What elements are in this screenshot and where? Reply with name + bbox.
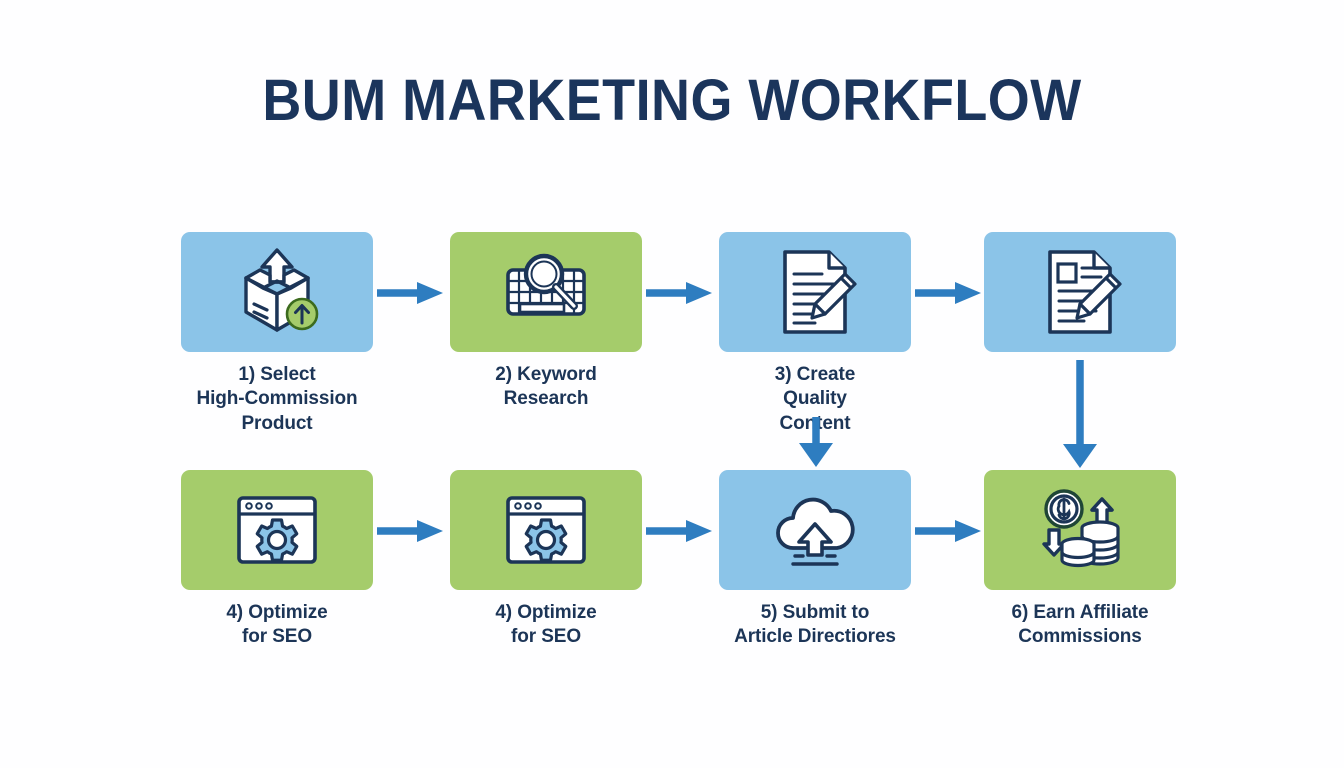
workflow-step-8[interactable]: 6) Earn Affiliate Commissions bbox=[984, 470, 1176, 650]
step-7-card[interactable] bbox=[719, 470, 911, 590]
browser-gear-icon bbox=[498, 482, 594, 578]
workflow-row-1: 1) Select High-Commission Product bbox=[0, 232, 1344, 472]
money-coins-icon bbox=[1032, 482, 1128, 578]
arrow-step4-to-step8-icon bbox=[1057, 360, 1103, 470]
document-pencil-icon bbox=[767, 244, 863, 340]
cloud-upload-icon bbox=[767, 482, 863, 578]
step-1-label: 1) Select High-Commission Product bbox=[162, 363, 392, 436]
step-5-label-line-2: for SEO bbox=[181, 625, 373, 649]
step-5-label: 4) Optimize for SEO bbox=[181, 601, 373, 650]
step-6-card[interactable] bbox=[450, 470, 642, 590]
step-1-label-line-1: 1) Select bbox=[162, 363, 392, 387]
workflow-step-6[interactable]: 4) Optimize for SEO bbox=[450, 470, 642, 650]
article-pencil-icon bbox=[1032, 244, 1128, 340]
step-1-label-line-2: High-Commission bbox=[162, 387, 392, 411]
page-title: BUM MARKETING WORKFLOW bbox=[47, 72, 1297, 130]
step-5-card[interactable] bbox=[181, 470, 373, 590]
step-7-label: 5) Submit to Article Directiores bbox=[700, 601, 930, 650]
arrow-step7-to-step8-icon bbox=[915, 518, 983, 544]
diagram-canvas: BUM MARKETING WORKFLOW bbox=[0, 0, 1344, 768]
step-3-label-line-2: Quality bbox=[719, 387, 911, 411]
arrow-step6-to-step7-icon bbox=[646, 518, 714, 544]
arrow-step3-to-step7-icon bbox=[793, 417, 839, 469]
open-box-up-arrow-icon bbox=[229, 244, 325, 340]
step-6-label: 4) Optimize for SEO bbox=[450, 601, 642, 650]
step-7-label-line-1: 5) Submit to bbox=[700, 601, 930, 625]
arrow-step3-to-step4-icon bbox=[915, 280, 983, 306]
step-4-card[interactable] bbox=[984, 232, 1176, 352]
step-2-card[interactable] bbox=[450, 232, 642, 352]
workflow-step-2[interactable]: 2) Keyword Research bbox=[450, 232, 642, 412]
step-2-label-line-2: Research bbox=[450, 387, 642, 411]
step-8-card[interactable] bbox=[984, 470, 1176, 590]
workflow-step-7[interactable]: 5) Submit to Article Directiores bbox=[719, 470, 911, 650]
step-2-label-line-1: 2) Keyword bbox=[450, 363, 642, 387]
step-3-card[interactable] bbox=[719, 232, 911, 352]
browser-gear-icon bbox=[229, 482, 325, 578]
step-8-label: 6) Earn Affiliate Commissions bbox=[965, 601, 1195, 650]
workflow-row-2: 4) Optimize for SEO bbox=[0, 470, 1344, 710]
workflow-step-1[interactable]: 1) Select High-Commission Product bbox=[181, 232, 373, 436]
workflow-step-5[interactable]: 4) Optimize for SEO bbox=[181, 470, 373, 650]
step-5-label-line-1: 4) Optimize bbox=[181, 601, 373, 625]
step-1-label-line-3: Product bbox=[162, 412, 392, 436]
step-3-label-line-1: 3) Create bbox=[719, 363, 911, 387]
workflow-step-4[interactable] bbox=[984, 232, 1176, 363]
workflow-step-3[interactable]: 3) Create Quality Content bbox=[719, 232, 911, 436]
step-2-label: 2) Keyword Research bbox=[450, 363, 642, 412]
keyboard-magnifier-icon bbox=[498, 244, 594, 340]
step-1-card[interactable] bbox=[181, 232, 373, 352]
arrow-step1-to-step2-icon bbox=[377, 280, 445, 306]
arrow-step5-to-step6-icon bbox=[377, 518, 445, 544]
arrow-step2-to-step3-icon bbox=[646, 280, 714, 306]
step-6-label-line-2: for SEO bbox=[450, 625, 642, 649]
step-6-label-line-1: 4) Optimize bbox=[450, 601, 642, 625]
step-8-label-line-1: 6) Earn Affiliate bbox=[965, 601, 1195, 625]
step-7-label-line-2: Article Directiores bbox=[700, 625, 930, 649]
step-8-label-line-2: Commissions bbox=[965, 625, 1195, 649]
